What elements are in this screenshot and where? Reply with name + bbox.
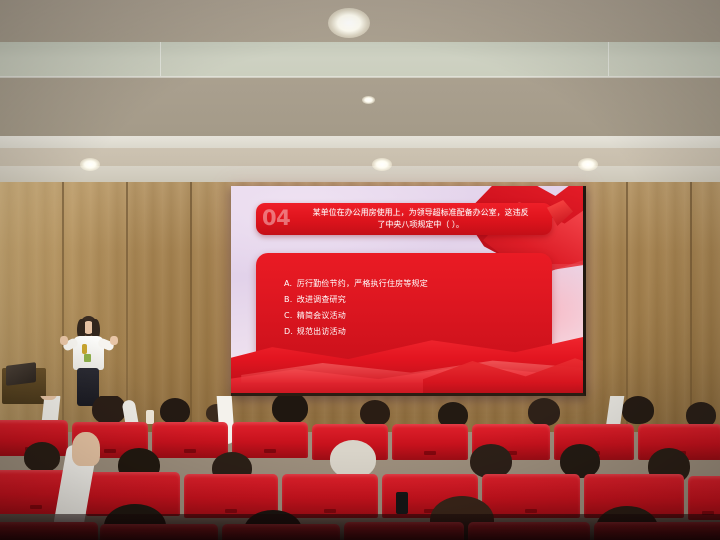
wall-panel-seam — [690, 182, 692, 432]
option-d-text: 规范出访活动 — [297, 327, 346, 336]
wall-panel-seam — [126, 182, 128, 432]
projection-screen[interactable]: 04 某单位在办公用房使用上，为领导超标准配备办公室，这违反 了中央八项规定中（… — [231, 186, 586, 396]
audience-head — [24, 442, 60, 472]
audience-head — [160, 398, 190, 424]
option-c-text: 精简会议活动 — [297, 311, 346, 320]
audience-head — [560, 444, 600, 478]
seat — [392, 424, 468, 460]
audience-head — [272, 396, 308, 424]
presenter-hand-left — [60, 336, 68, 345]
water-bottle — [146, 410, 154, 424]
ceiling-band-seam — [160, 42, 161, 78]
ceiling-band-seam — [608, 42, 609, 78]
wall-panel-seam — [190, 182, 192, 432]
foreground-shadow — [0, 514, 720, 540]
raised-hand-foreground — [72, 432, 100, 466]
question-banner: 04 某单位在办公用房使用上，为领导超标准配备办公室，这违反 了中央八项规定中（… — [256, 203, 552, 235]
presenter — [62, 316, 118, 404]
option-b[interactable]: B. 改进调查研究 — [284, 296, 552, 304]
option-c[interactable]: C. 精简会议活动 — [284, 312, 552, 320]
presenter-badge — [84, 354, 91, 362]
laptop — [6, 362, 36, 386]
audience-head — [92, 396, 126, 424]
question-text: 某单位在办公用房使用上，为领导超标准配备办公室，这违反 了中央八项规定中（ ）。 — [297, 207, 544, 230]
option-a-text: 厉行勤俭节约，严格执行住房等规定 — [297, 279, 428, 288]
option-a-key: A. — [284, 280, 294, 288]
question-number: 04 — [262, 208, 290, 229]
auditorium-photo-scene: 04 某单位在办公用房使用上，为领导超标准配备办公室，这违反 了中央八项规定中（… — [0, 0, 720, 540]
ceiling-light-icon — [328, 8, 370, 38]
seat — [152, 422, 228, 458]
ceiling-glass-band — [0, 42, 720, 78]
option-c-key: C. — [284, 312, 294, 320]
seat — [482, 474, 580, 518]
wall-panel-seam — [626, 182, 628, 432]
option-b-text: 改进调查研究 — [297, 295, 346, 304]
option-b-key: B. — [284, 296, 294, 304]
option-d[interactable]: D. 规范出访活动 — [284, 328, 552, 336]
ceiling-light-icon — [362, 96, 375, 104]
presenter-hand-right — [110, 336, 118, 345]
audience-head — [528, 398, 560, 426]
audience-head-grey — [330, 440, 376, 478]
ceiling-light-icon — [80, 158, 100, 171]
ceiling-light-icon — [578, 158, 598, 171]
question-line-2: 了中央八项规定中（ ）。 — [377, 220, 464, 229]
audience-head — [360, 400, 390, 426]
question-line-1: 某单位在办公用房使用上，为领导超标准配备办公室，这违反 — [313, 208, 529, 217]
audience-head — [622, 396, 654, 424]
option-a[interactable]: A. 厉行勤俭节约，严格执行住房等规定 — [284, 280, 552, 288]
ceiling-light-icon — [372, 158, 392, 171]
seat — [232, 422, 308, 458]
audience-head — [470, 444, 512, 478]
option-d-key: D. — [284, 328, 294, 336]
audience-seating — [0, 396, 720, 540]
phone-icon — [396, 492, 408, 514]
ceiling-mid-slab — [0, 78, 720, 138]
seat — [282, 474, 378, 518]
microphone-icon — [82, 344, 87, 354]
